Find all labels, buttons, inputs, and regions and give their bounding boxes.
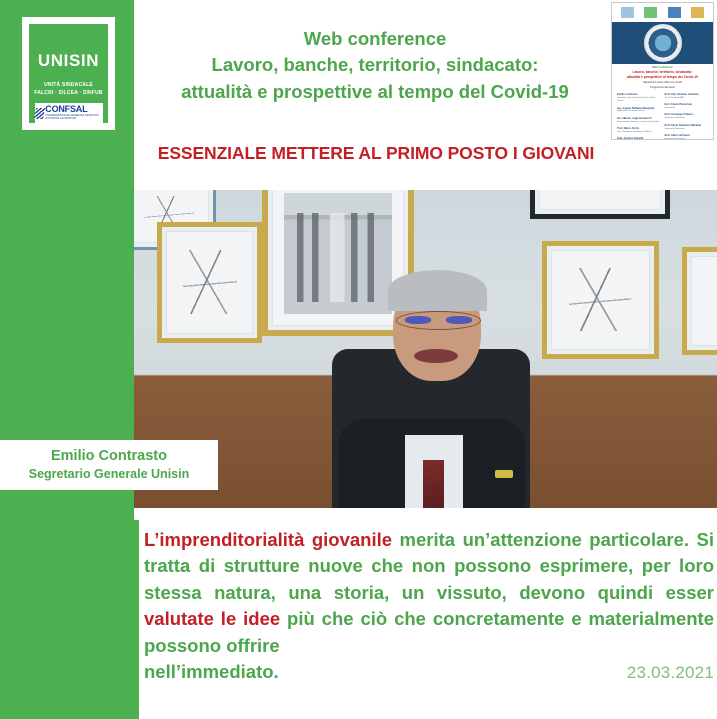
- speaker-lapel-pin: [495, 470, 512, 478]
- flyer-entry-role: Segretario Generale Unisin Falcri Silcea…: [617, 97, 661, 104]
- flyer-entry-role: Segretario Nazionale: [665, 117, 709, 120]
- flyer-program-entry: Prof. Marco Fortis Vice Presidente Fonda…: [617, 127, 661, 134]
- flyer-logo-icon-1: [621, 7, 634, 18]
- slide-root: UNISIN UNITÀ SINDACALE FALCRI · SILCEA ·…: [0, 0, 717, 719]
- speaker-glasses: [396, 311, 481, 330]
- flyer-entry-role: Commissione Finanze Camera dei Deputati: [617, 121, 661, 124]
- quote-last-line: nell’immediato. 23.03.2021: [144, 659, 714, 685]
- flyer-logo-icon-3: [668, 7, 681, 18]
- frame-artwork: [569, 268, 631, 331]
- wall-picture-frame: [157, 222, 262, 343]
- video-still: [134, 190, 717, 508]
- wall-picture-frame: [682, 247, 717, 355]
- flyer-logo-icon-4: [691, 7, 704, 18]
- flyer-program-entry: Dott. Flavio Piccarreta Giornalista: [665, 103, 709, 110]
- speaker-name-badge: Emilio Contrasto Segretario Generale Uni…: [0, 440, 218, 490]
- flyer-program-entry: Emilio Contrasto Segretario Generale Uni…: [617, 93, 661, 103]
- unisin-logo-subtitle-line1: UNITÀ SINDACALE: [34, 82, 103, 90]
- conference-title-line2: Lavoro, banche, territorio, sindacato:: [140, 52, 610, 78]
- flyer-program-entry: Ing. Angelo Raffaele Margiotta Segretari…: [617, 107, 661, 114]
- unisin-logo-wordmark: UNISIN: [38, 52, 99, 69]
- quote-highlight-first: L’imprenditorialità giovanile: [144, 529, 392, 550]
- headline-statement: ESSENZIALE METTERE AL PRIMO POSTO I GIOV…: [136, 143, 616, 164]
- wall-picture-frame: [542, 241, 659, 359]
- conference-title-line3: attualità e prospettive al tempo del Cov…: [140, 79, 610, 105]
- speaker-tie: [423, 460, 444, 508]
- flyer-entry-role: Segretario Nazionale: [665, 128, 709, 131]
- flyer-title-block: Web Conference Lavoro, banche, territori…: [612, 64, 713, 91]
- frame-artwork: [183, 250, 237, 315]
- frame-artwork: [284, 193, 393, 313]
- speaker-hair: [388, 270, 487, 311]
- flyer-entry-role: Vice Presidente Fondazione Edison: [617, 131, 661, 134]
- flyer-entry-role: Segretario Nazionale: [665, 138, 709, 140]
- flyer-program-label: Programma dei lavori: [617, 86, 708, 90]
- speaker-mouth: [414, 349, 458, 363]
- conference-title: Web conference Lavoro, banche, territori…: [140, 26, 610, 105]
- flyer-program-left-column: Emilio Contrasto Segretario Generale Uni…: [617, 93, 661, 140]
- flyer-clock-icon: [644, 24, 682, 62]
- flyer-program-entry: Dott. Paolo Salvatore Mirabile Segretari…: [665, 124, 709, 131]
- unisin-logo-subtitle: UNITÀ SINDACALE FALCRI · SILCEA · SINFUB: [34, 82, 103, 97]
- confsal-logo-text: CONFSAL CONFEDERAZIONE GENERALE SINDACAT…: [45, 105, 102, 120]
- unisin-logo-subtitle-line2: FALCRI · SILCEA · SINFUB: [34, 90, 103, 98]
- confsal-logo-tagline: CONFEDERAZIONE GENERALE SINDACATI AUTONO…: [45, 115, 102, 120]
- quote-body-last: nell’immediato.: [144, 659, 279, 685]
- flyer-program-entry: Dott. Pier Giuliano Cimmino Vice Preside…: [665, 93, 709, 100]
- flyer-logo-icon-2: [644, 7, 657, 18]
- speaker-role: Segretario Generale Unisin: [29, 466, 189, 482]
- flyer-entry-name: Dott. Antonio Patuelli: [617, 137, 661, 140]
- flyer-title-main2: attualità e prospettive al tempo del Cov…: [617, 75, 708, 80]
- flyer-entry-role: Vice Presidente ABI: [665, 97, 709, 100]
- flyer-program-columns: Emilio Contrasto Segretario Generale Uni…: [612, 91, 713, 140]
- flyer-program-entry: Dott. Giuseppe Palazzo Segretario Nazion…: [665, 113, 709, 120]
- confsal-stripes-icon: [33, 108, 44, 119]
- flyer-program-entry: Dott. Aldo Lanfranco Segretario Nazional…: [665, 134, 709, 140]
- flyer-program-entry: Dott. Antonio Patuelli Presidente ABI: [617, 137, 661, 140]
- flyer-entry-role: Giornalista: [665, 107, 709, 110]
- quote-block: L’imprenditorialità giovanile merita un’…: [144, 527, 714, 686]
- flyer-program-right-column: Dott. Pier Giuliano Cimmino Vice Preside…: [665, 93, 709, 140]
- wall-picture-frame: [530, 190, 670, 219]
- wall-picture-frame: [262, 190, 414, 336]
- flyer-sponsor-logos: [612, 3, 713, 22]
- flyer-program-entry: On. Alberto Luigi Gusmeroli Commissione …: [617, 117, 661, 124]
- flyer-date-line: Martedì 23 marzo 2021 ore 10.00: [617, 81, 708, 85]
- unisin-logo: UNISIN UNITÀ SINDACALE FALCRI · SILCEA ·…: [22, 17, 115, 130]
- flyer-hero-band: [612, 22, 713, 64]
- confsal-logo: CONFSAL CONFEDERAZIONE GENERALE SINDACAT…: [35, 103, 103, 123]
- quote-date: 23.03.2021: [627, 661, 714, 685]
- speaker-name: Emilio Contrasto: [51, 448, 167, 465]
- unisin-logo-inner: UNISIN UNITÀ SINDACALE FALCRI · SILCEA ·…: [29, 24, 108, 123]
- conference-title-line1: Web conference: [140, 26, 610, 52]
- quote-accent-bar: [134, 520, 139, 719]
- quote-highlight-second: valutate le idee: [144, 608, 280, 629]
- event-flyer-thumbnail: Web Conference Lavoro, banche, territori…: [611, 2, 714, 140]
- flyer-entry-role: Segretario Generale Confsal: [617, 110, 661, 113]
